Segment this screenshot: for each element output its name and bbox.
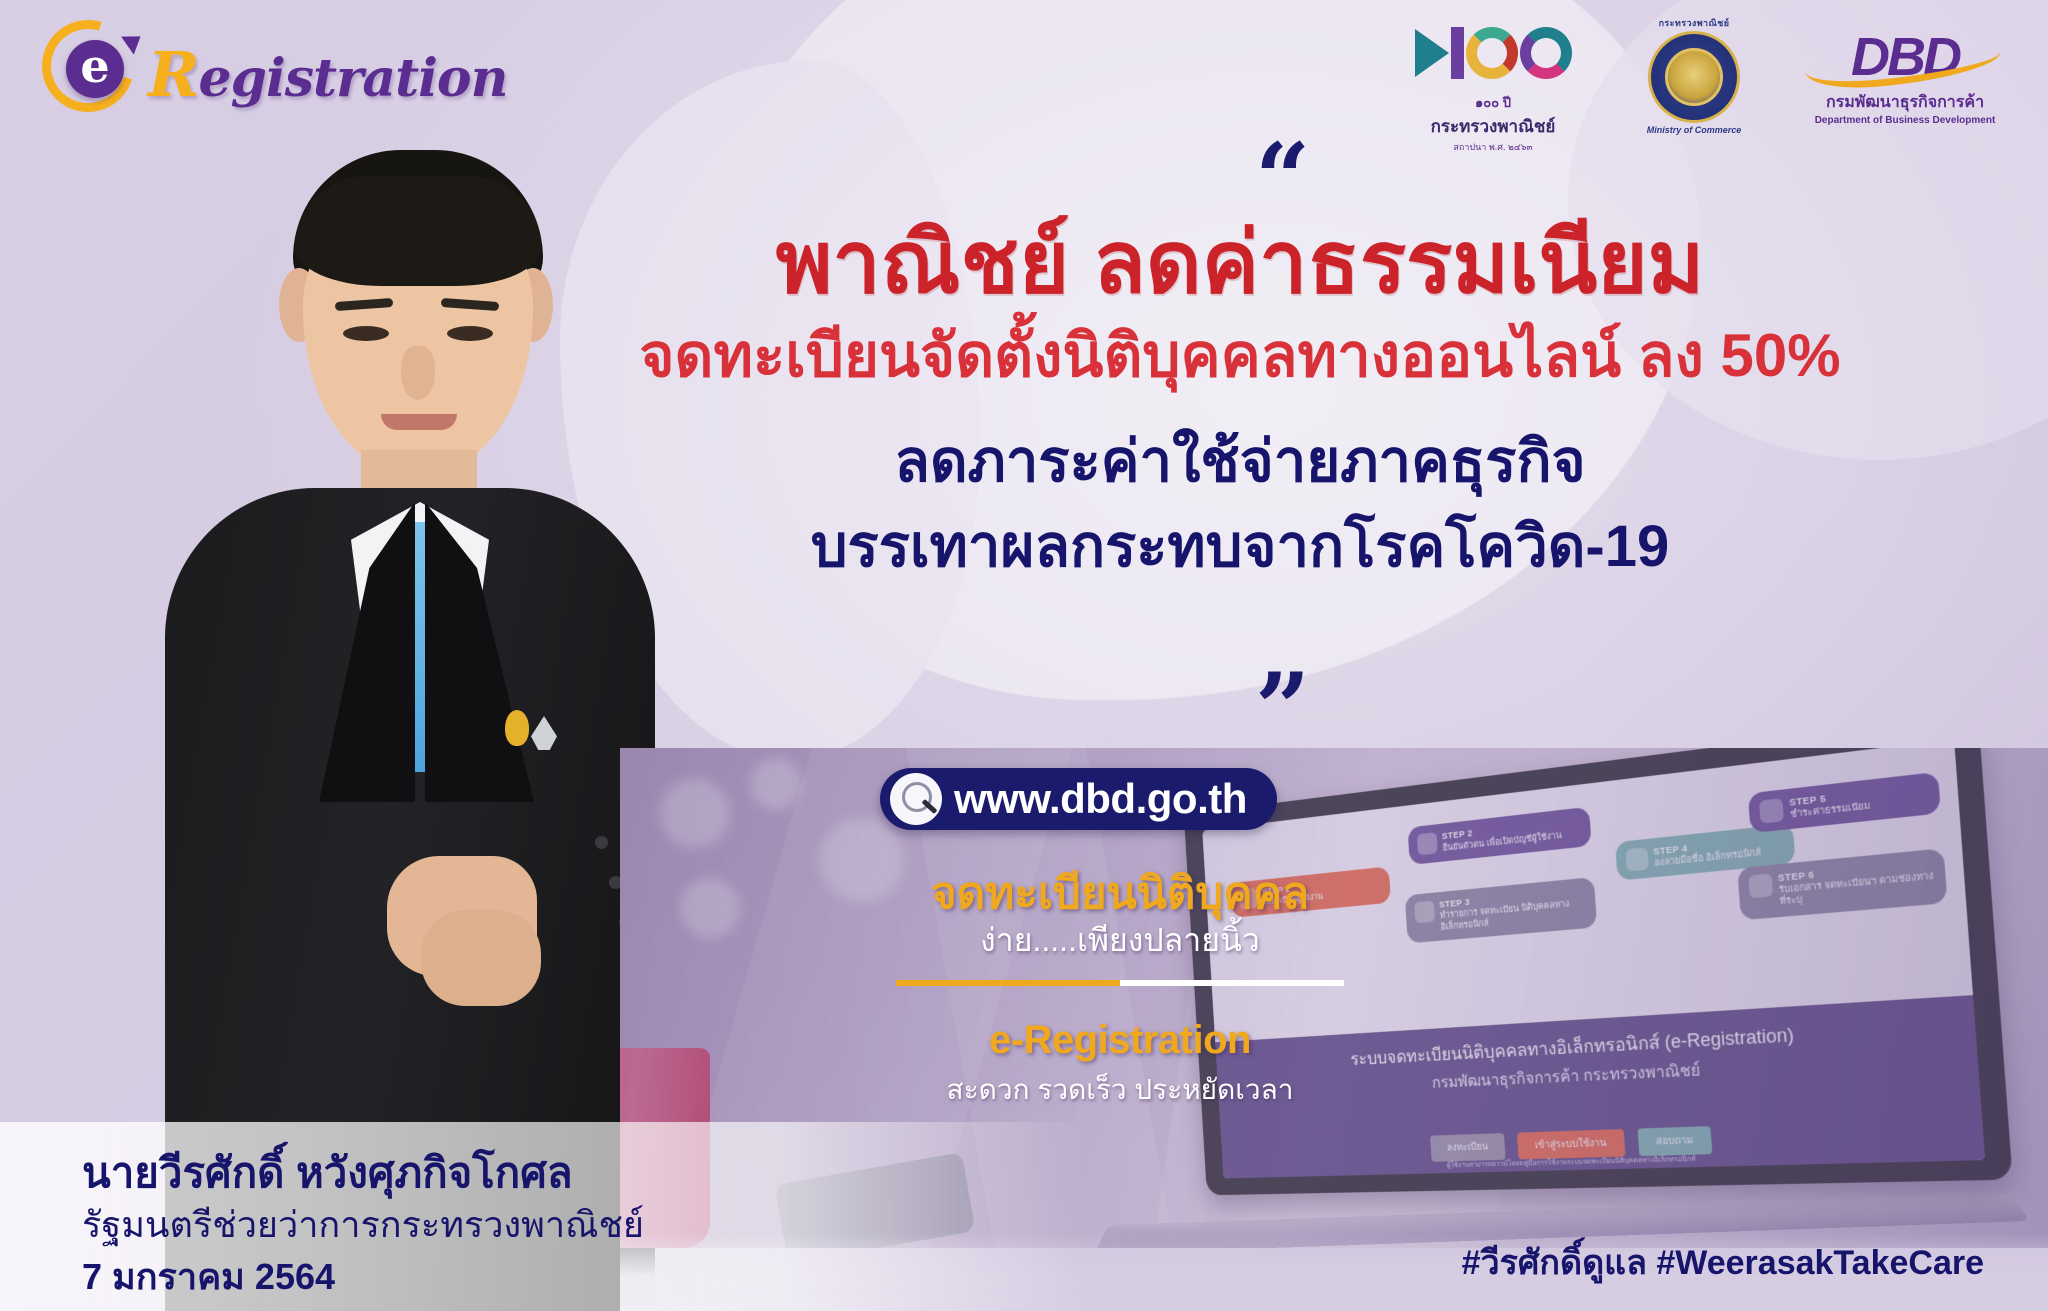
portrait-hand-lower [421,910,541,1006]
dbd-english-name: Department of Business Development [1790,115,2020,126]
ministry-seal-english-arc: Ministry of Commerce [1640,125,1748,135]
portrait-jacket-button-1 [595,836,608,849]
search-icon [890,773,942,825]
portrait-hair-front [295,176,541,286]
logo-letter-e: e [66,40,124,98]
minister-role: รัฐมนตรีช่วยว่าการกระทรวงพาณิชย์ [82,1196,644,1253]
promo-benefits: สะดวก รวดเร็ว ประหยัดเวลา [880,1068,1360,1112]
headline-block: พาณิชย์ ลดค่าธรรมเนียม จดทะเบียนจัดตั้งน… [620,215,1860,589]
play-triangle-icon [1415,29,1449,77]
website-url-text: www.dbd.go.th [954,775,1247,823]
ministry-seal-thai-arc: กระทรวงพาณิชย์ [1640,16,1748,30]
e-registration-logo: e Registration [26,12,426,122]
website-url-pill[interactable]: www.dbd.go.th [880,768,1277,830]
digit-one-bar [1451,27,1464,79]
portrait-eye-left [343,326,389,341]
promo-divider-gold [896,980,1120,986]
portrait-eye-right [447,326,493,341]
publication-date: 7 มกราคม 2564 [82,1248,335,1305]
portrait-lapel-pin-gold [505,710,529,746]
headline-line-2: จดทะเบียนจัดตั้งนิติบุคคลทางออนไลน์ ลง 5… [620,315,1860,396]
anniversary-years: ๑๐๐ ปี [1388,92,1598,113]
promo-service-name: e-Registration [880,1018,1360,1063]
anniversary-mark-icon [1388,16,1598,90]
digit-zero-ring-a-icon [1466,27,1518,79]
portrait-nose [401,346,435,400]
hashtags: #วีรศักดิ์ดูแล #WeerasakTakeCare [1462,1235,1984,1289]
quote-open-mark: “ [1255,150,1310,208]
anniversary-established: สถาปนา พ.ศ. ๒๔๖๓ [1388,140,1598,154]
ministry-of-commerce-logo: กระทรวงพาณิชย์ Ministry of Commerce [1640,16,1748,135]
digit-zero-ring-b-icon [1520,27,1572,79]
poster-canvas: e Registration ๑๐๐ ปี กระทรวงพาณิชย์ สถา… [0,0,2048,1311]
anniversary-100-logo: ๑๐๐ ปี กระทรวงพาณิชย์ สถาปนา พ.ศ. ๒๔๖๓ [1388,16,1598,154]
promo-divider-white [1120,980,1344,986]
portrait-mouth [381,414,457,430]
ministry-seal-icon [1648,31,1740,123]
dbd-mark-icon: DBD [1790,28,2020,88]
dbd-logo: DBD กรมพัฒนาธุรกิจการค้า Department of B… [1790,16,2020,126]
promo-divider [896,980,1344,986]
headline-line-3: ลดภาระค่าใช้จ่ายภาคธุรกิจ [620,418,1860,505]
headline-line-4: บรรเทาผลกระทบจากโรคโควิด-19 [620,505,1860,589]
logo-wordmark: Registration [148,38,507,111]
dbd-thai-name: กรมพัฒนาธุรกิจการค้า [1790,90,2020,115]
anniversary-ministry-name: กระทรวงพาณิชย์ [1388,113,1598,140]
quote-close-mark: ” [1255,680,1310,738]
headline-line-1: พาณิชย์ ลดค่าธรรมเนียม [620,215,1860,311]
logo-wordmark-rest: egistration [199,48,508,109]
header-logo-group: ๑๐๐ ปี กระทรวงพาณิชย์ สถาปนา พ.ศ. ๒๔๖๓ ก… [1388,16,2020,154]
promo-tagline: ง่าย.....เพียงปลายนิ้ว [880,915,1360,966]
logo-wordmark-r: R [148,38,199,111]
